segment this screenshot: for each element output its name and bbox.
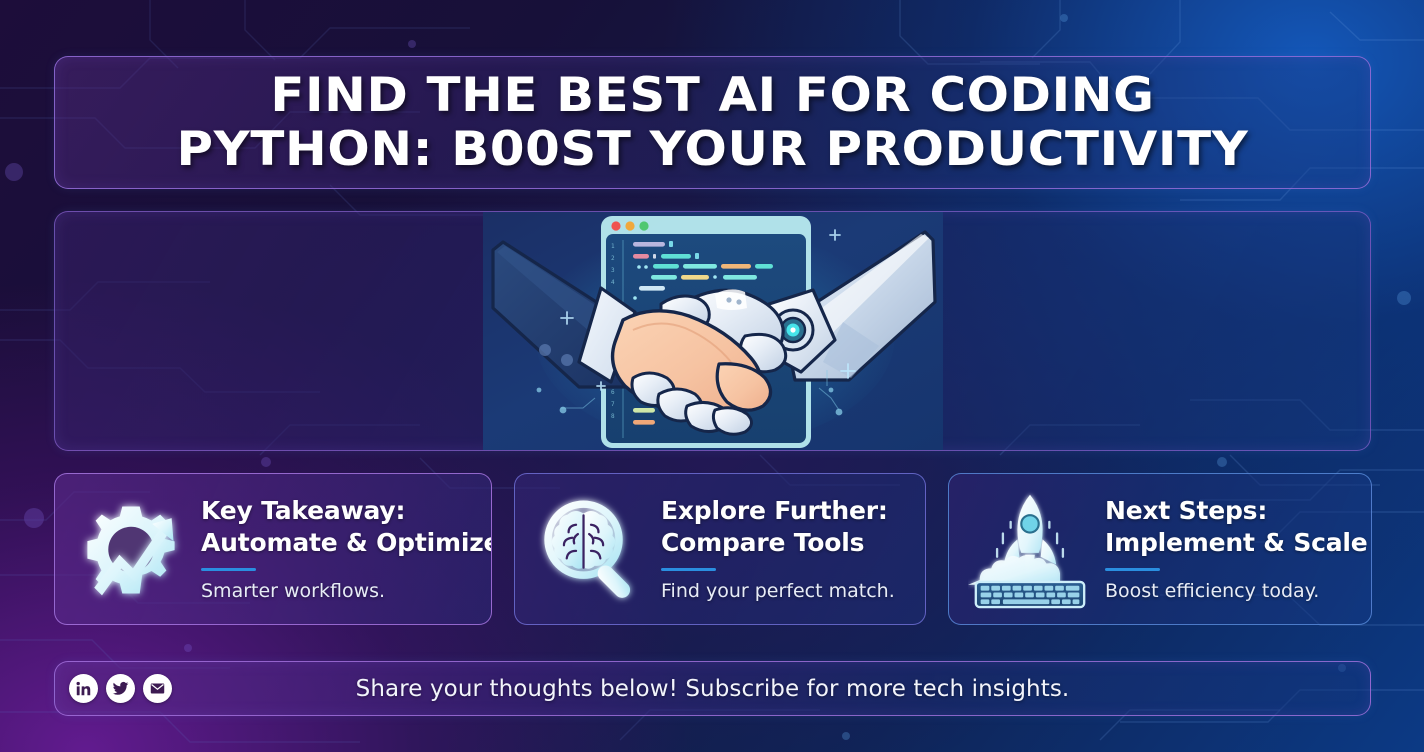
card-subtitle: Boost efficiency today. xyxy=(1105,579,1368,603)
card-divider xyxy=(661,568,716,571)
twitter-icon[interactable] xyxy=(106,674,135,703)
hero-panel: 12 34 56 78 xyxy=(54,211,1371,451)
card-title: Key Takeaway: Automate & Optimize xyxy=(201,495,492,559)
svg-text:6: 6 xyxy=(611,389,615,396)
social-links xyxy=(69,674,172,703)
linkedin-icon[interactable] xyxy=(69,674,98,703)
rocket-keyboard-icon xyxy=(965,486,1095,612)
footer-message: Share your thoughts below! Subscribe for… xyxy=(55,676,1370,702)
card-title-line-2: Implement & Scale xyxy=(1105,527,1368,559)
card-subtitle: Find your perfect match. xyxy=(661,579,911,603)
info-card-key-takeaway[interactable]: Key Takeaway: Automate & Optimize Smarte… xyxy=(54,473,492,625)
brain-magnifier-icon xyxy=(531,489,651,609)
gear-growth-icon xyxy=(71,489,191,609)
card-title-line-1: Next Steps: xyxy=(1105,495,1368,527)
svg-text:8: 8 xyxy=(611,413,615,420)
svg-text:1: 1 xyxy=(611,243,615,250)
svg-text:2: 2 xyxy=(611,255,615,262)
card-title: Explore Further: Compare Tools xyxy=(661,495,911,559)
svg-text:4: 4 xyxy=(611,279,615,286)
card-title: Next Steps: Implement & Scale xyxy=(1105,495,1368,559)
card-body: Explore Further: Compare Tools Find your… xyxy=(651,495,911,603)
footer-panel: Share your thoughts below! Subscribe for… xyxy=(54,661,1371,716)
email-icon[interactable] xyxy=(143,674,172,703)
card-body: Key Takeaway: Automate & Optimize Smarte… xyxy=(191,495,492,603)
title-line-1: FIND THE BEST AI FOR CODING xyxy=(16,69,1410,123)
page-title: FIND THE BEST AI FOR CODING PYTHON: B00S… xyxy=(16,69,1410,177)
card-subtitle: Smarter workflows. xyxy=(201,579,492,603)
card-title-line-2: Compare Tools xyxy=(661,527,911,559)
card-title-line-1: Key Takeaway: xyxy=(201,495,492,527)
infographic-canvas: FIND THE BEST AI FOR CODING PYTHON: B00S… xyxy=(0,0,1424,752)
card-divider xyxy=(201,568,256,571)
card-body: Next Steps: Implement & Scale Boost effi… xyxy=(1095,495,1368,603)
title-panel: FIND THE BEST AI FOR CODING PYTHON: B00S… xyxy=(54,56,1371,189)
info-card-next-steps[interactable]: Next Steps: Implement & Scale Boost effi… xyxy=(948,473,1372,625)
svg-text:3: 3 xyxy=(611,267,615,274)
svg-text:7: 7 xyxy=(611,401,615,408)
card-title-line-2: Automate & Optimize xyxy=(201,527,492,559)
card-title-line-1: Explore Further: xyxy=(661,495,911,527)
info-card-explore-further[interactable]: Explore Further: Compare Tools Find your… xyxy=(514,473,926,625)
title-line-2: PYTHON: B00ST YOUR PRODUCTIVITY xyxy=(16,123,1410,177)
ai-handshake-illustration: 12 34 56 78 xyxy=(483,212,943,451)
card-divider xyxy=(1105,568,1160,571)
